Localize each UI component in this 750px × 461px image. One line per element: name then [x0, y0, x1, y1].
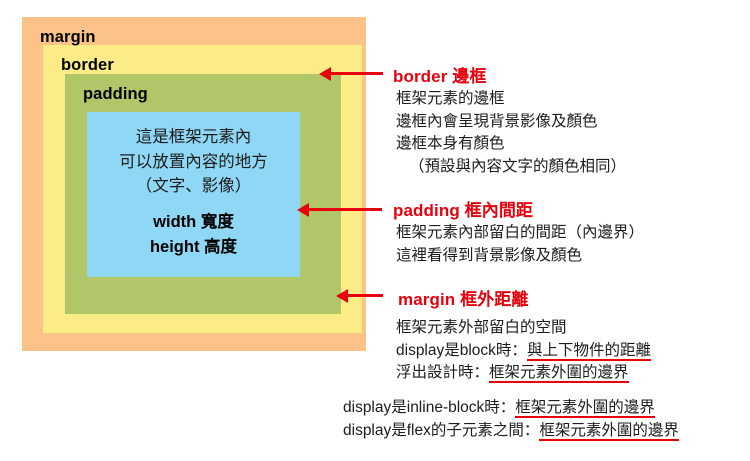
border-note-2: 邊框內會呈現背景影像及顏色	[396, 111, 626, 134]
border-label: border	[61, 56, 114, 75]
padding-layer: 這是框架元素內 可以放置內容的地方 （文字、影像） width 寬度 heigh…	[65, 74, 341, 314]
bottom-note-flex: display是flex的子元素之間：框架元素外圍的邊界	[343, 419, 679, 442]
margin-annotation-heading: margin 框外距離	[398, 285, 529, 310]
bottom-note-inline-block-underlined: 框架元素外圍的邊界	[515, 399, 655, 418]
margin-pointer-arrow-icon	[347, 294, 383, 297]
padding-annotation-body: 框架元素內部留白的間距（內邊界） 這裡看得到背景影像及顏色	[396, 222, 644, 267]
margin-label: margin	[40, 28, 96, 47]
border-note-3: 邊框本身有顏色	[396, 133, 626, 156]
margin-note-1: 框架元素外部留白的空間	[396, 317, 651, 340]
margin-note-float-prefix: 浮出設計時：	[396, 364, 489, 381]
padding-label: padding	[83, 85, 148, 104]
padding-annotation-heading: padding 框內間距	[393, 196, 533, 221]
content-box-text: 這是框架元素內 可以放置內容的地方 （文字、影像） width 寬度 heigh…	[87, 112, 300, 277]
margin-note-block: display是block時：與上下物件的距離	[396, 340, 651, 363]
margin-note-float: 浮出設計時：框架元素外圍的邊界	[396, 362, 651, 385]
content-height-label: height 高度	[150, 235, 237, 260]
padding-note-2: 這裡看得到背景影像及顏色	[396, 245, 644, 268]
border-annotation-body: 框架元素的邊框 邊框內會呈現背景影像及顏色 邊框本身有顏色 （預設與內容文字的顏…	[396, 88, 626, 178]
margin-note-float-underlined: 框架元素外圍的邊界	[489, 364, 629, 383]
content-width-label: width 寬度	[153, 210, 234, 235]
bottom-note-flex-underlined: 框架元素外圍的邊界	[539, 422, 679, 441]
bottom-note-flex-prefix: display是flex的子元素之間：	[343, 422, 539, 439]
margin-note-block-underlined: 與上下物件的距離	[527, 342, 651, 361]
bottom-note-inline-block-prefix: display是inline-block時：	[343, 399, 515, 416]
padding-pointer-arrow-icon	[308, 208, 382, 211]
annotation-column: border 邊框 框架元素的邊框 邊框內會呈現背景影像及顏色 邊框本身有顏色 …	[389, 0, 750, 461]
border-note-4: （預設與內容文字的顏色相同）	[396, 156, 626, 179]
margin-note-block-prefix: display是block時：	[396, 342, 527, 359]
margin-annotation-body: 框架元素外部留白的空間 display是block時：與上下物件的距離 浮出設計…	[396, 317, 651, 385]
bottom-notes: display是inline-block時：框架元素外圍的邊界 display是…	[343, 396, 679, 442]
padding-note-1: 框架元素內部留白的間距（內邊界）	[396, 222, 644, 245]
content-line-3: （文字、影像）	[136, 174, 252, 199]
box-model-diagram: 這是框架元素內 可以放置內容的地方 （文字、影像） width 寬度 heigh…	[22, 17, 366, 351]
bottom-note-inline-block: display是inline-block時：框架元素外圍的邊界	[343, 396, 679, 419]
border-pointer-arrow-icon	[330, 72, 383, 75]
border-note-1: 框架元素的邊框	[396, 88, 626, 111]
border-annotation-heading: border 邊框	[393, 62, 486, 87]
content-line-1: 這是框架元素內	[136, 125, 252, 150]
content-line-2: 可以放置內容的地方	[119, 150, 268, 175]
